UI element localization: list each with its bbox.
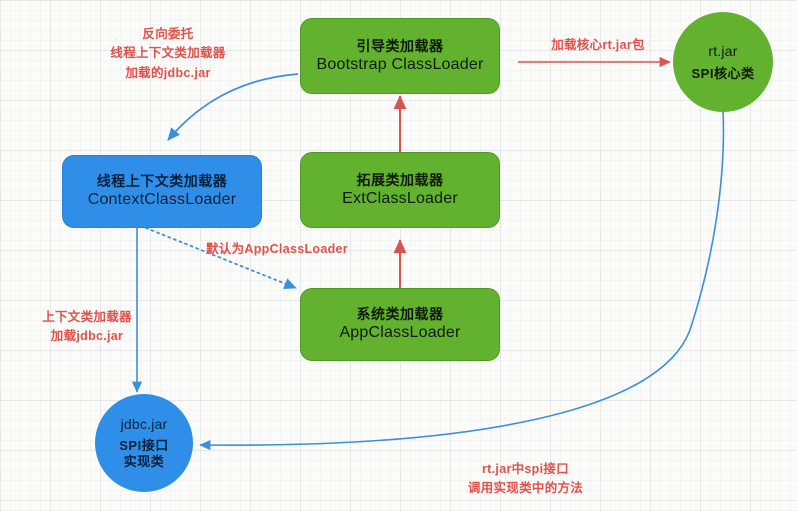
node-ext-label-cn: 拓展类加载器 — [357, 172, 444, 189]
annotation-load-core-rtjar: 加载核心rt.jar包 — [528, 36, 668, 55]
node-rtjar-label-cn: SPI核心类 — [692, 66, 755, 82]
node-context-label-en: ContextClassLoader — [88, 190, 237, 210]
annotation-reverse-delegate-line1: 反向委托 — [78, 25, 258, 44]
annotation-default-appclassloader: 默认为AppClassLoader — [206, 240, 386, 259]
annotation-default-app-line1: 默认为AppClassLoader — [206, 240, 386, 259]
annotation-reverse-delegate: 反向委托 线程上下文类加载器 加载的jdbc.jar — [78, 25, 258, 83]
diagram-canvas: 引导类加载器 Bootstrap ClassLoader 拓展类加载器 ExtC… — [0, 0, 797, 511]
annotation-spi-invoke-line1: rt.jar中spi接口 — [438, 460, 613, 479]
annotation-load-core-line1: 加载核心rt.jar包 — [528, 36, 668, 55]
node-context-label-cn: 线程上下文类加载器 — [97, 173, 228, 190]
node-bootstrap-label-en: Bootstrap ClassLoader — [317, 55, 484, 75]
annotation-spi-invoke: rt.jar中spi接口 调用实现类中的方法 — [438, 460, 613, 499]
annotation-reverse-delegate-line2: 线程上下文类加载器 — [78, 44, 258, 63]
node-jdbcjar-label-cn2: 实现类 — [124, 454, 165, 470]
annotation-context-load-jdbc-line2: 加载jdbc.jar — [22, 327, 152, 346]
node-ext-classloader[interactable]: 拓展类加载器 ExtClassLoader — [300, 152, 500, 228]
annotation-spi-invoke-line2: 调用实现类中的方法 — [438, 479, 613, 498]
arrow-bootstrap-to-context — [168, 74, 298, 140]
annotation-context-load-jdbc: 上下文类加载器 加载jdbc.jar — [22, 308, 152, 347]
node-app-label-en: AppClassLoader — [339, 323, 460, 343]
node-jdbcjar-label-en: jdbc.jar — [121, 416, 168, 433]
node-app-label-cn: 系统类加载器 — [357, 306, 444, 323]
annotation-reverse-delegate-line3: 加载的jdbc.jar — [78, 64, 258, 83]
node-rtjar-label-en: rt.jar — [708, 43, 737, 60]
node-jdbcjar-label-cn1: SPI接口 — [119, 438, 168, 454]
node-jdbcjar[interactable]: jdbc.jar SPI接口 实现类 — [95, 394, 193, 492]
annotation-context-load-jdbc-line1: 上下文类加载器 — [22, 308, 152, 327]
node-bootstrap-label-cn: 引导类加载器 — [357, 38, 444, 55]
node-rtjar[interactable]: rt.jar SPI核心类 — [673, 12, 773, 112]
node-context-classloader[interactable]: 线程上下文类加载器 ContextClassLoader — [62, 155, 262, 228]
node-app-classloader[interactable]: 系统类加载器 AppClassLoader — [300, 288, 500, 361]
node-bootstrap-classloader[interactable]: 引导类加载器 Bootstrap ClassLoader — [300, 18, 500, 94]
node-ext-label-en: ExtClassLoader — [342, 189, 458, 209]
